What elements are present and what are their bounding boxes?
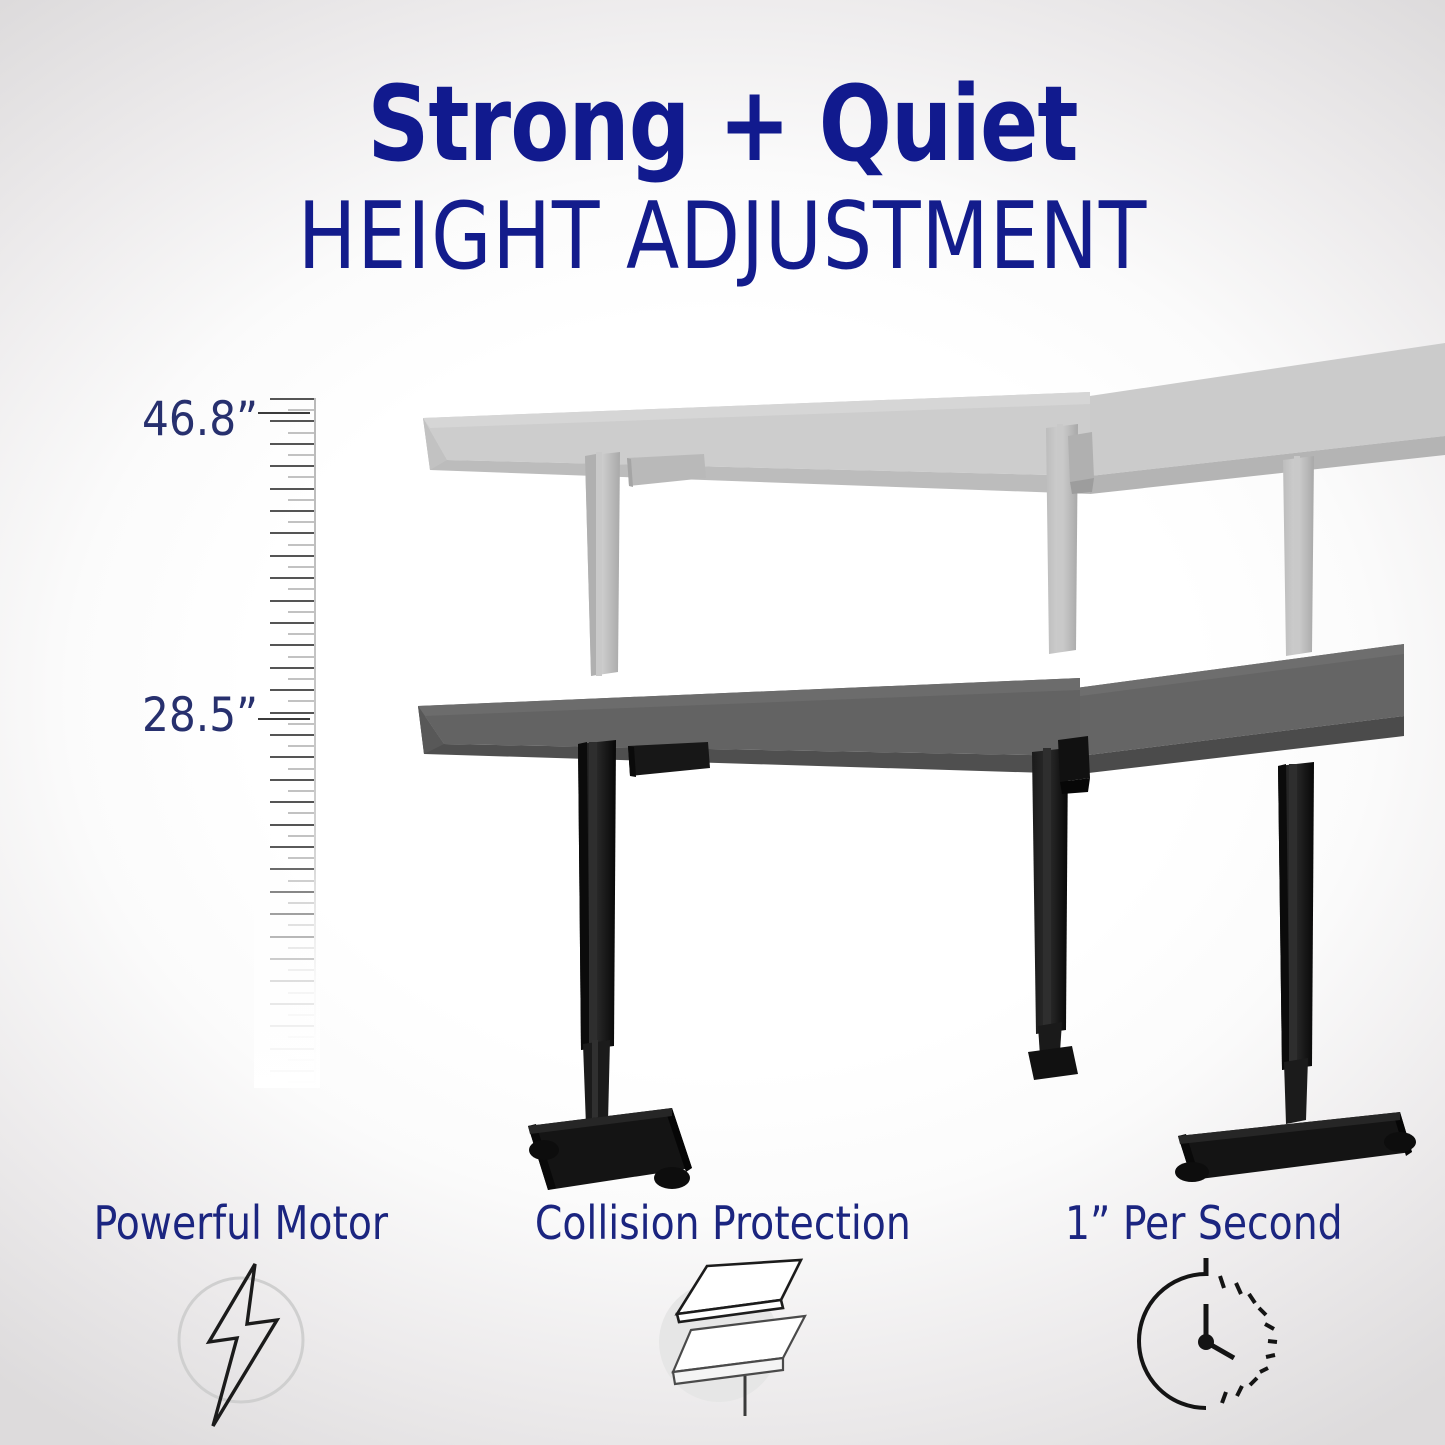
ruler-tick bbox=[288, 1036, 314, 1038]
lowered-desk-group bbox=[418, 644, 1416, 1190]
ruler-tick bbox=[288, 969, 314, 971]
ruler-tick bbox=[288, 700, 314, 702]
ruler-tick bbox=[288, 947, 314, 949]
ruler-tick bbox=[288, 768, 314, 770]
ruler-tick bbox=[288, 812, 314, 814]
raised-desk-group bbox=[423, 343, 1445, 676]
ruler-tick bbox=[288, 476, 314, 478]
ruler-tick bbox=[270, 846, 314, 848]
ruler-tick bbox=[270, 577, 314, 579]
ruler-tick bbox=[270, 644, 314, 646]
ruler-tick bbox=[288, 611, 314, 613]
ruler-tick bbox=[270, 555, 314, 557]
ruler-tick bbox=[270, 734, 314, 736]
lowered-leg-left bbox=[528, 740, 692, 1190]
raised-leg-right bbox=[1283, 456, 1314, 656]
ruler-tick bbox=[288, 1014, 314, 1016]
lowered-control-panel bbox=[628, 742, 710, 777]
corner-bracket bbox=[1058, 736, 1090, 782]
ruler-tick bbox=[288, 1059, 314, 1061]
ruler-tick bbox=[270, 420, 314, 422]
ruler-tick bbox=[270, 868, 314, 870]
ruler-tick bbox=[288, 499, 314, 501]
ruler-tick bbox=[288, 902, 314, 904]
ruler-tick bbox=[270, 891, 314, 893]
feature-label-speed: 1” Per Second bbox=[975, 1196, 1433, 1250]
desktop-collision-icon bbox=[633, 1258, 813, 1433]
height-ruler bbox=[258, 398, 316, 1088]
ruler-tick bbox=[288, 521, 314, 523]
ruler-tick bbox=[270, 779, 314, 781]
ruler-tick bbox=[270, 622, 314, 624]
raised-leg-left bbox=[585, 452, 620, 676]
lightning-bolt-icon bbox=[151, 1258, 331, 1433]
ruler-tick bbox=[288, 745, 314, 747]
lowered-leg-right bbox=[1175, 762, 1416, 1182]
ruler-spine bbox=[314, 398, 316, 1088]
ruler-tick bbox=[288, 454, 314, 456]
clock-icon bbox=[1114, 1258, 1294, 1433]
ruler-tick bbox=[288, 835, 314, 837]
ruler-tick bbox=[288, 924, 314, 926]
lowered-leg-corner bbox=[1028, 736, 1090, 1080]
raised-control-panel bbox=[627, 454, 706, 487]
ruler-tick bbox=[270, 1025, 314, 1027]
feature-label-collision-protection: Collision Protection bbox=[494, 1196, 952, 1250]
ruler-tick bbox=[270, 756, 314, 758]
ruler-tick bbox=[288, 992, 314, 994]
ruler-tick bbox=[270, 1070, 314, 1072]
feature-powerful-motor: Powerful Motor bbox=[0, 1196, 482, 1445]
ruler-tick bbox=[270, 398, 314, 400]
ruler-tick bbox=[288, 544, 314, 546]
infographic-canvas: Strong + Quiet HEIGHT ADJUSTMENT bbox=[0, 0, 1445, 1445]
ruler-tick bbox=[288, 656, 314, 658]
feature-row: Powerful Motor Collision Protection 1” P… bbox=[0, 1196, 1445, 1445]
ruler-tick bbox=[270, 510, 314, 512]
ruler-tick bbox=[270, 1003, 314, 1005]
ruler-tick bbox=[270, 712, 314, 714]
ruler-tick bbox=[270, 936, 314, 938]
ruler-tick bbox=[288, 1081, 314, 1083]
feature-collision-protection: Collision Protection bbox=[482, 1196, 964, 1445]
ruler-tick bbox=[288, 790, 314, 792]
ruler-tick bbox=[288, 432, 314, 434]
ruler-tick bbox=[270, 532, 314, 534]
ruler-tick bbox=[270, 689, 314, 691]
ruler-tick bbox=[270, 958, 314, 960]
ruler-tick bbox=[270, 443, 314, 445]
ruler-tick bbox=[270, 1048, 314, 1050]
feature-label-powerful-motor: Powerful Motor bbox=[12, 1196, 470, 1250]
ruler-tick bbox=[288, 857, 314, 859]
measure-rule-bottom bbox=[258, 718, 310, 720]
ruler-tick bbox=[270, 801, 314, 803]
ruler-tick bbox=[270, 913, 314, 915]
measure-rule-top bbox=[258, 412, 310, 414]
min-height-label: 28.5” bbox=[142, 688, 258, 743]
ruler-tick bbox=[288, 633, 314, 635]
ruler-tick bbox=[270, 600, 314, 602]
ruler-tick bbox=[270, 824, 314, 826]
ruler-tick bbox=[270, 667, 314, 669]
ruler-tick bbox=[270, 488, 314, 490]
ruler-tick bbox=[288, 588, 314, 590]
ruler-tick bbox=[288, 409, 314, 411]
max-height-label: 46.8” bbox=[142, 392, 258, 447]
ruler-tick bbox=[288, 566, 314, 568]
feature-speed: 1” Per Second bbox=[963, 1196, 1445, 1445]
ruler-tick bbox=[288, 678, 314, 680]
ruler-tick bbox=[288, 723, 314, 725]
ruler-tick bbox=[288, 880, 314, 882]
ruler-tick bbox=[270, 465, 314, 467]
ruler-tick bbox=[270, 980, 314, 982]
raised-leg-corner bbox=[1046, 424, 1094, 654]
